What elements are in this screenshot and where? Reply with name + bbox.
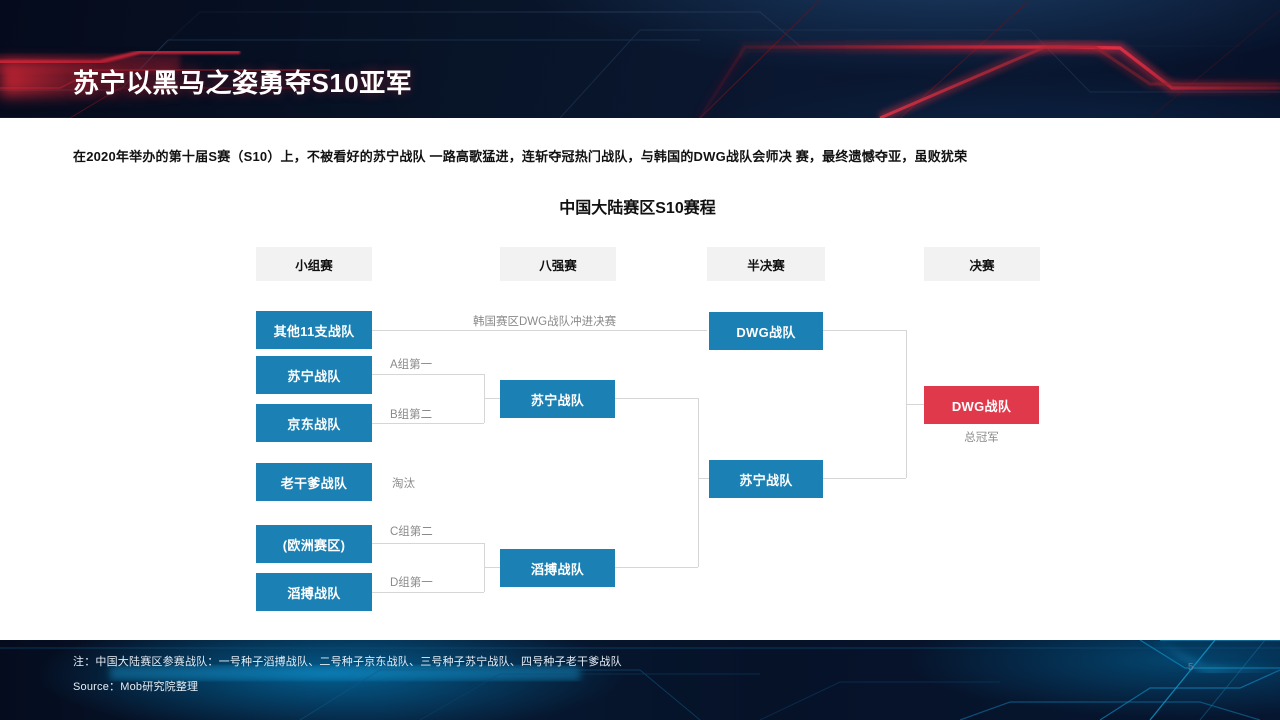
lead-paragraph: 在2020年举办的第十届S赛（S10）上，不被看好的苏宁战队 一路高歌猛进，连斩…: [73, 146, 1268, 168]
page-title: 苏宁以黑马之姿勇夺S10亚军: [73, 63, 412, 100]
edge-label-group-c-second: C组第二: [390, 523, 433, 539]
round-header-quarter-final: 八强赛: [500, 247, 616, 281]
edge-label-dwg-advance: 韩国赛区DWG战队冲进决赛: [473, 313, 616, 329]
connector-line: [615, 567, 698, 568]
edge-label-eliminated: 淘汰: [392, 475, 415, 491]
team-box-quarter-1[interactable]: 滔搏战队: [500, 549, 615, 587]
team-box-group-0[interactable]: 其他11支战队: [256, 311, 372, 349]
connector-line: [372, 543, 484, 544]
team-box-semi-1[interactable]: 苏宁战队: [709, 460, 823, 498]
connector-line: [484, 567, 500, 568]
page-number: 5: [1188, 662, 1194, 673]
connector-line: [823, 478, 906, 479]
team-box-group-4[interactable]: (欧洲赛区): [256, 525, 372, 563]
team-box-champion[interactable]: DWG战队: [924, 386, 1039, 424]
footer-source: Source：Mob研究院整理: [73, 678, 198, 694]
chart-title-text: 中国大陆赛区S10赛程: [559, 200, 715, 217]
connector-line: [372, 374, 484, 375]
team-box-group-1[interactable]: 苏宁战队: [256, 356, 372, 394]
team-box-quarter-0[interactable]: 苏宁战队: [500, 380, 615, 418]
edge-label-group-a-first: A组第一: [390, 356, 432, 372]
connector-line: [698, 478, 709, 479]
round-header-semi-final: 半决赛: [707, 247, 825, 281]
edge-label-group-b-second: B组第二: [390, 406, 432, 422]
header-decor-graphic: [0, 0, 1280, 118]
slide: 苏宁以黑马之姿勇夺S10亚军 在2020年举办的第十届S赛（S10）上，不被看好…: [0, 0, 1280, 720]
footer-note: 注：中国大陆赛区参赛战队：一号种子滔搏战队、二号种子京东战队、三号种子苏宁战队、…: [73, 653, 622, 669]
connector-line: [615, 398, 698, 399]
team-box-group-5[interactable]: 滔搏战队: [256, 573, 372, 611]
header-banner: 苏宁以黑马之姿勇夺S10亚军: [0, 0, 1280, 118]
connector-line: [372, 592, 484, 593]
team-box-group-2[interactable]: 京东战队: [256, 404, 372, 442]
round-header-final: 决赛: [924, 247, 1040, 281]
connector-line: [698, 398, 699, 567]
connector-line: [823, 330, 906, 331]
chart-title: 中国大陆赛区S10赛程: [0, 194, 1280, 218]
team-box-semi-0[interactable]: DWG战队: [709, 312, 823, 350]
connector-line: [372, 423, 484, 424]
edge-label-group-d-first: D组第一: [390, 574, 433, 590]
connector-line: [906, 404, 924, 405]
round-header-group-stage: 小组赛: [256, 247, 372, 281]
connector-line: [372, 330, 707, 331]
champion-subtitle: 总冠军: [924, 429, 1039, 445]
team-box-group-3[interactable]: 老干爹战队: [256, 463, 372, 501]
connector-line: [484, 398, 500, 399]
